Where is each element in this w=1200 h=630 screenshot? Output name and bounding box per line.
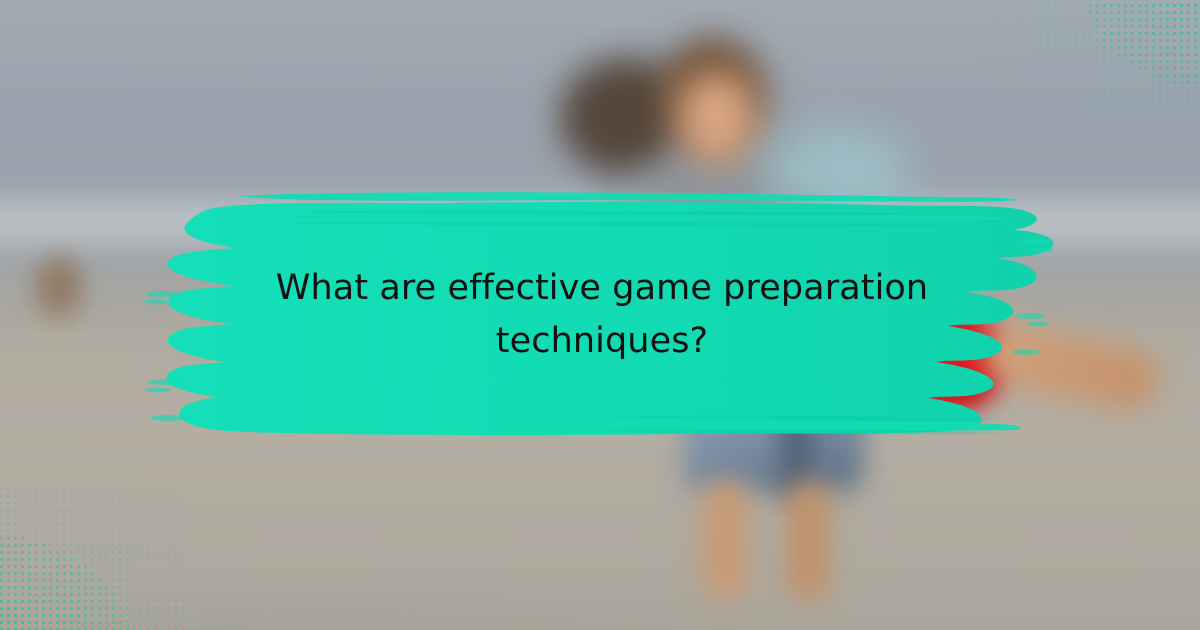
question-card: What are effective game preparation tech… (0, 0, 1200, 630)
headline-text: What are effective game preparation tech… (232, 262, 972, 368)
